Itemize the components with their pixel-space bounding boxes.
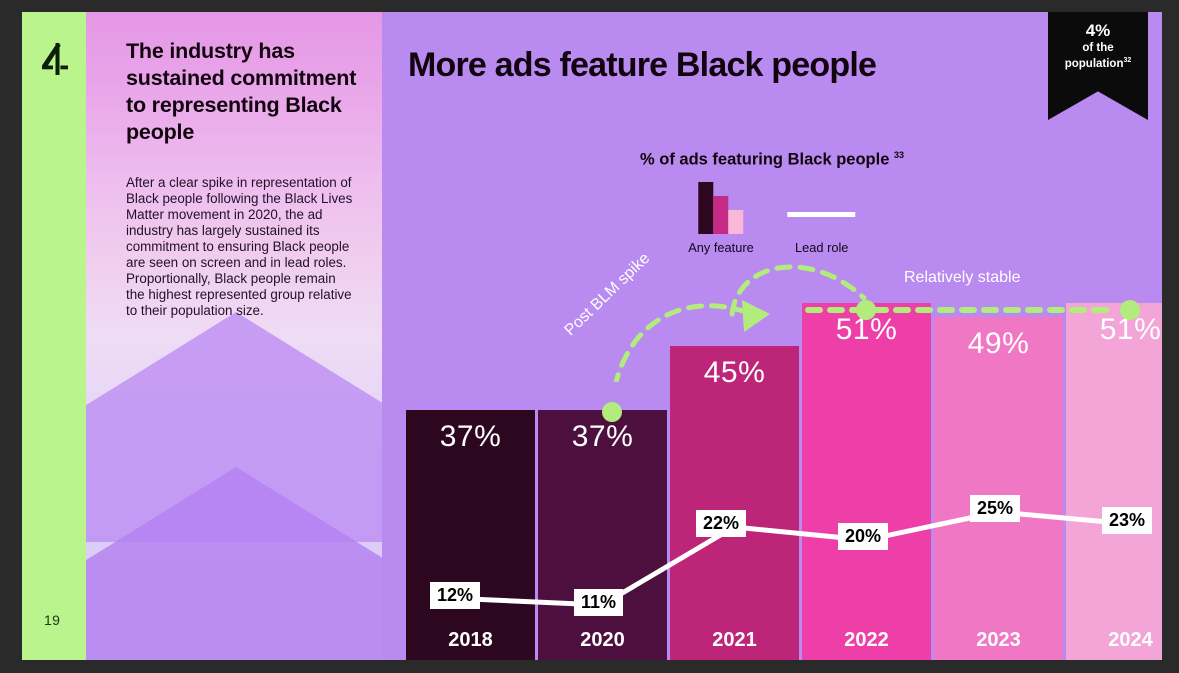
post-blm-spike-arc-tail (724, 252, 884, 322)
point-label-2023: 25% (970, 495, 1020, 522)
badge-percent: 4% (1048, 22, 1148, 41)
point-label-2022: 20% (838, 523, 888, 550)
population-badge: 4% of the population32 (1048, 12, 1148, 120)
page-number: 19 (44, 612, 60, 628)
slide: 19 The industry has sustained commitment… (22, 12, 1162, 660)
channel-4-logo (38, 42, 72, 76)
badge-line-2-text: population (1065, 58, 1124, 70)
plot-area: 37% 2018 37% 2020 45% 2021 51% 2022 49% (406, 262, 1162, 660)
left-green-rail: 19 (22, 12, 86, 660)
annotation-relatively-stable: Relatively stable (904, 269, 1021, 287)
point-label-2020: 11% (574, 589, 623, 616)
legend-title: % of ads featuring Black people 33 (382, 150, 1162, 170)
panel-body-text: After a clear spike in representation of… (126, 175, 354, 319)
legend-title-text: % of ads featuring Black people (640, 151, 889, 169)
badge-line-1: of the (1048, 41, 1148, 57)
chart-stage: More ads feature Black people 4% of the … (382, 12, 1162, 660)
badge-text: 4% of the population32 (1048, 22, 1148, 73)
chart-title: More ads feature Black people (408, 46, 876, 85)
slide-frame: 19 The industry has sustained commitment… (0, 0, 1179, 673)
badge-line-2: population32 (1048, 56, 1148, 72)
point-label-2021: 22% (696, 510, 746, 537)
panel-heading: The industry has sustained commitment to… (126, 38, 362, 146)
point-label-2018: 12% (430, 582, 480, 609)
chevron-decoration-2 (86, 467, 382, 660)
legend-swatch-line (788, 212, 856, 217)
point-label-2024: 23% (1102, 507, 1152, 534)
annotation-dot-2020 (602, 402, 622, 422)
annotation-dot-2024 (1120, 300, 1140, 320)
left-text-panel: The industry has sustained commitment to… (86, 12, 382, 660)
badge-footnote: 32 (1123, 57, 1131, 64)
legend-title-footnote: 33 (894, 150, 904, 160)
